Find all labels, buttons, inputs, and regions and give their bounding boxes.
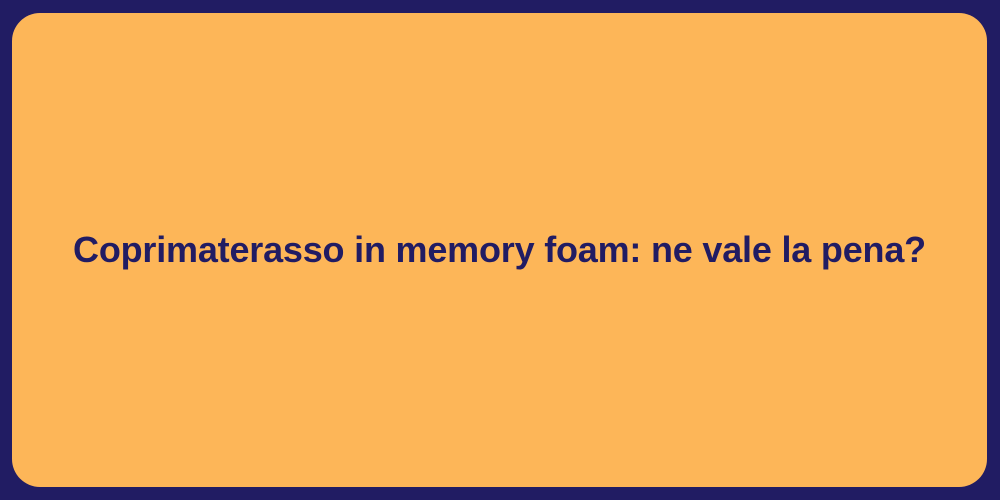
slide-canvas: Coprimaterasso in memory foam: ne vale l… — [0, 0, 1000, 500]
content-card: Coprimaterasso in memory foam: ne vale l… — [12, 13, 987, 487]
page-title: Coprimaterasso in memory foam: ne vale l… — [33, 229, 966, 270]
